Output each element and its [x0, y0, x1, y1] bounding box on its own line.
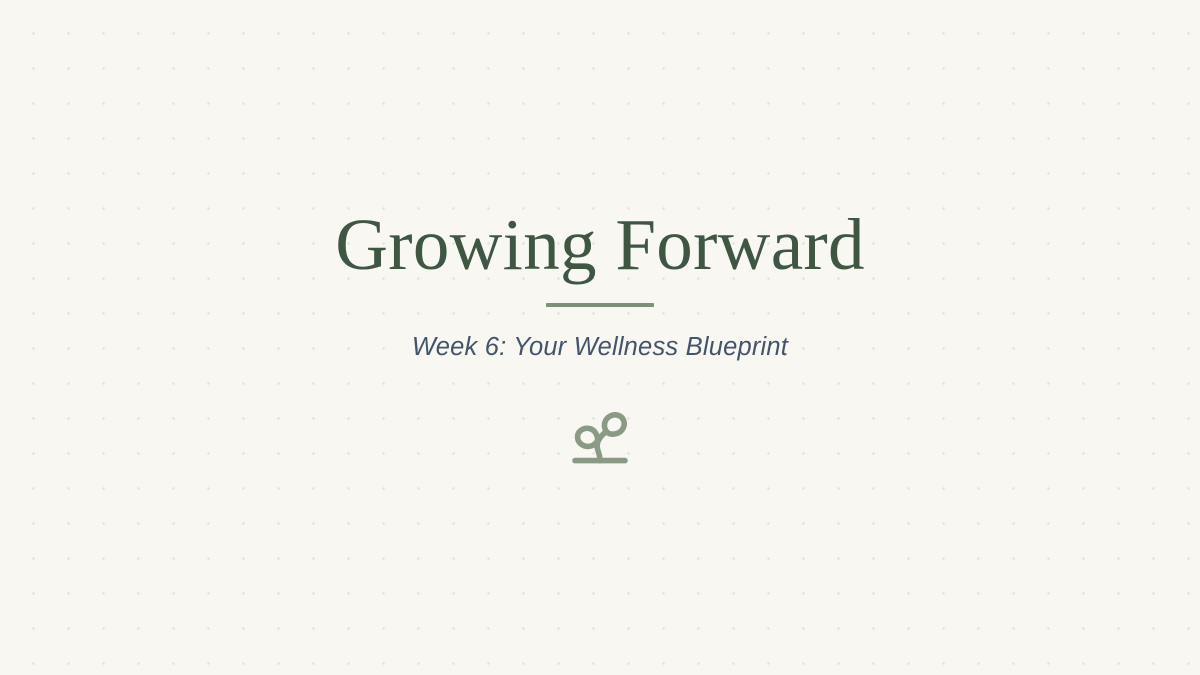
slide-content: Growing Forward Week 6: Your Wellness Bl…: [0, 0, 1200, 675]
page-title: Growing Forward: [335, 207, 865, 283]
title-divider: [546, 303, 654, 307]
page-subtitle: Week 6: Your Wellness Blueprint: [412, 333, 788, 362]
sprout-icon-graphic: [571, 408, 629, 468]
title-slide: Growing Forward Week 6: Your Wellness Bl…: [0, 0, 1200, 675]
sprout-icon: [571, 408, 629, 468]
